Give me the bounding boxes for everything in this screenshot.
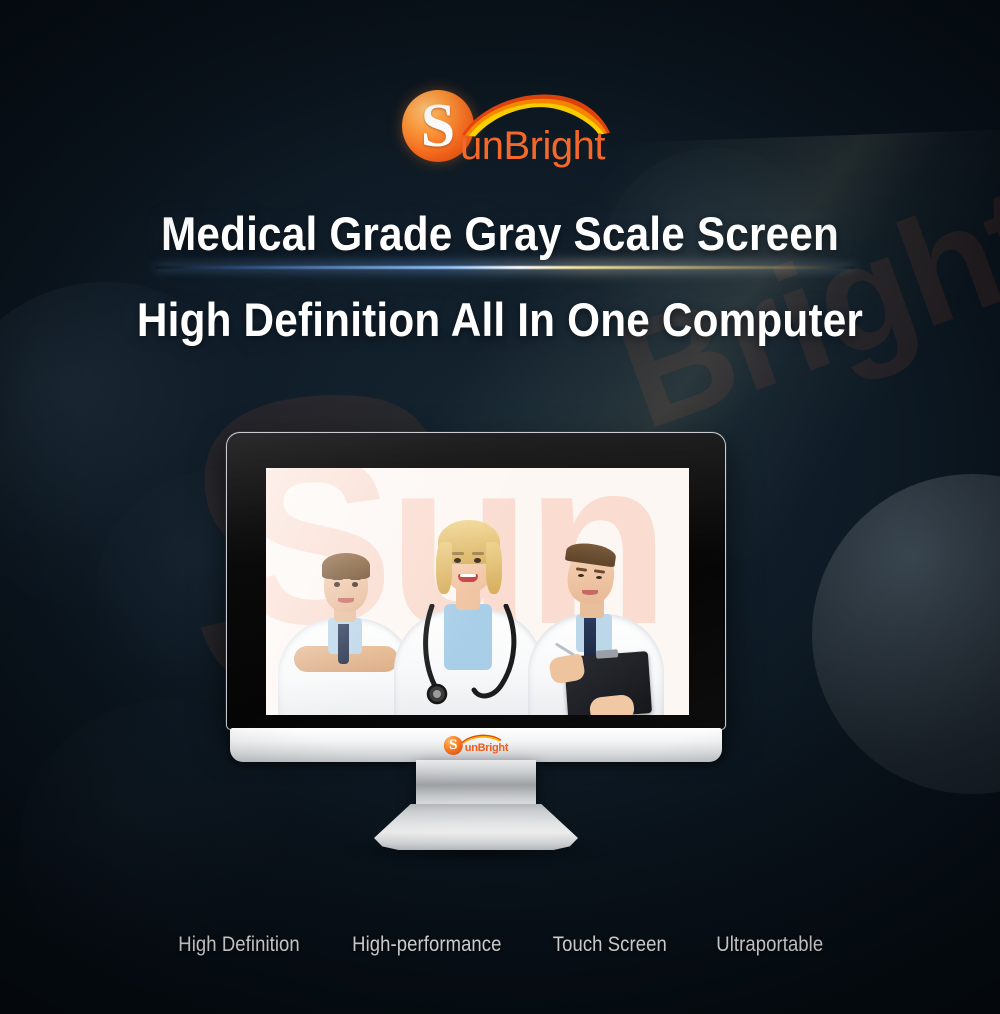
- monitor-chin-logo: unBright: [444, 735, 508, 755]
- feature-item-touch-screen: Touch Screen: [553, 933, 667, 957]
- monitor-bezel: Sun: [226, 432, 726, 730]
- doctors-photo: [266, 468, 689, 715]
- poster-stage: S un Bright S unBright Medical Grade Gra…: [0, 0, 1000, 1014]
- monitor-stand-base: [374, 804, 578, 850]
- feature-item-ultraportable: Ultraportable: [716, 933, 823, 957]
- monitor-stand-neck: [416, 760, 536, 808]
- monitor-screen[interactable]: Sun: [266, 468, 689, 715]
- all-in-one-computer: Sun: [226, 432, 726, 852]
- chin-logo-wordmark: unBright: [465, 743, 508, 754]
- headline-line-2: High Definition All In One Computer: [50, 292, 950, 347]
- stethoscope-icon: [406, 604, 536, 715]
- feature-item-high-performance: High-performance: [352, 933, 501, 957]
- sunbright-logo: S unBright: [402, 88, 614, 168]
- background-sphere-right: [812, 474, 1000, 794]
- headline-streak: [155, 266, 855, 269]
- monitor-chin-bar: unBright: [230, 728, 722, 762]
- headline-line-1: Medical Grade Gray Scale Screen: [50, 206, 950, 261]
- feature-list: High Definition High-performance Touch S…: [0, 933, 1000, 957]
- feature-item-high-definition: High Definition: [178, 933, 300, 957]
- logo-wordmark: unBright: [460, 126, 605, 166]
